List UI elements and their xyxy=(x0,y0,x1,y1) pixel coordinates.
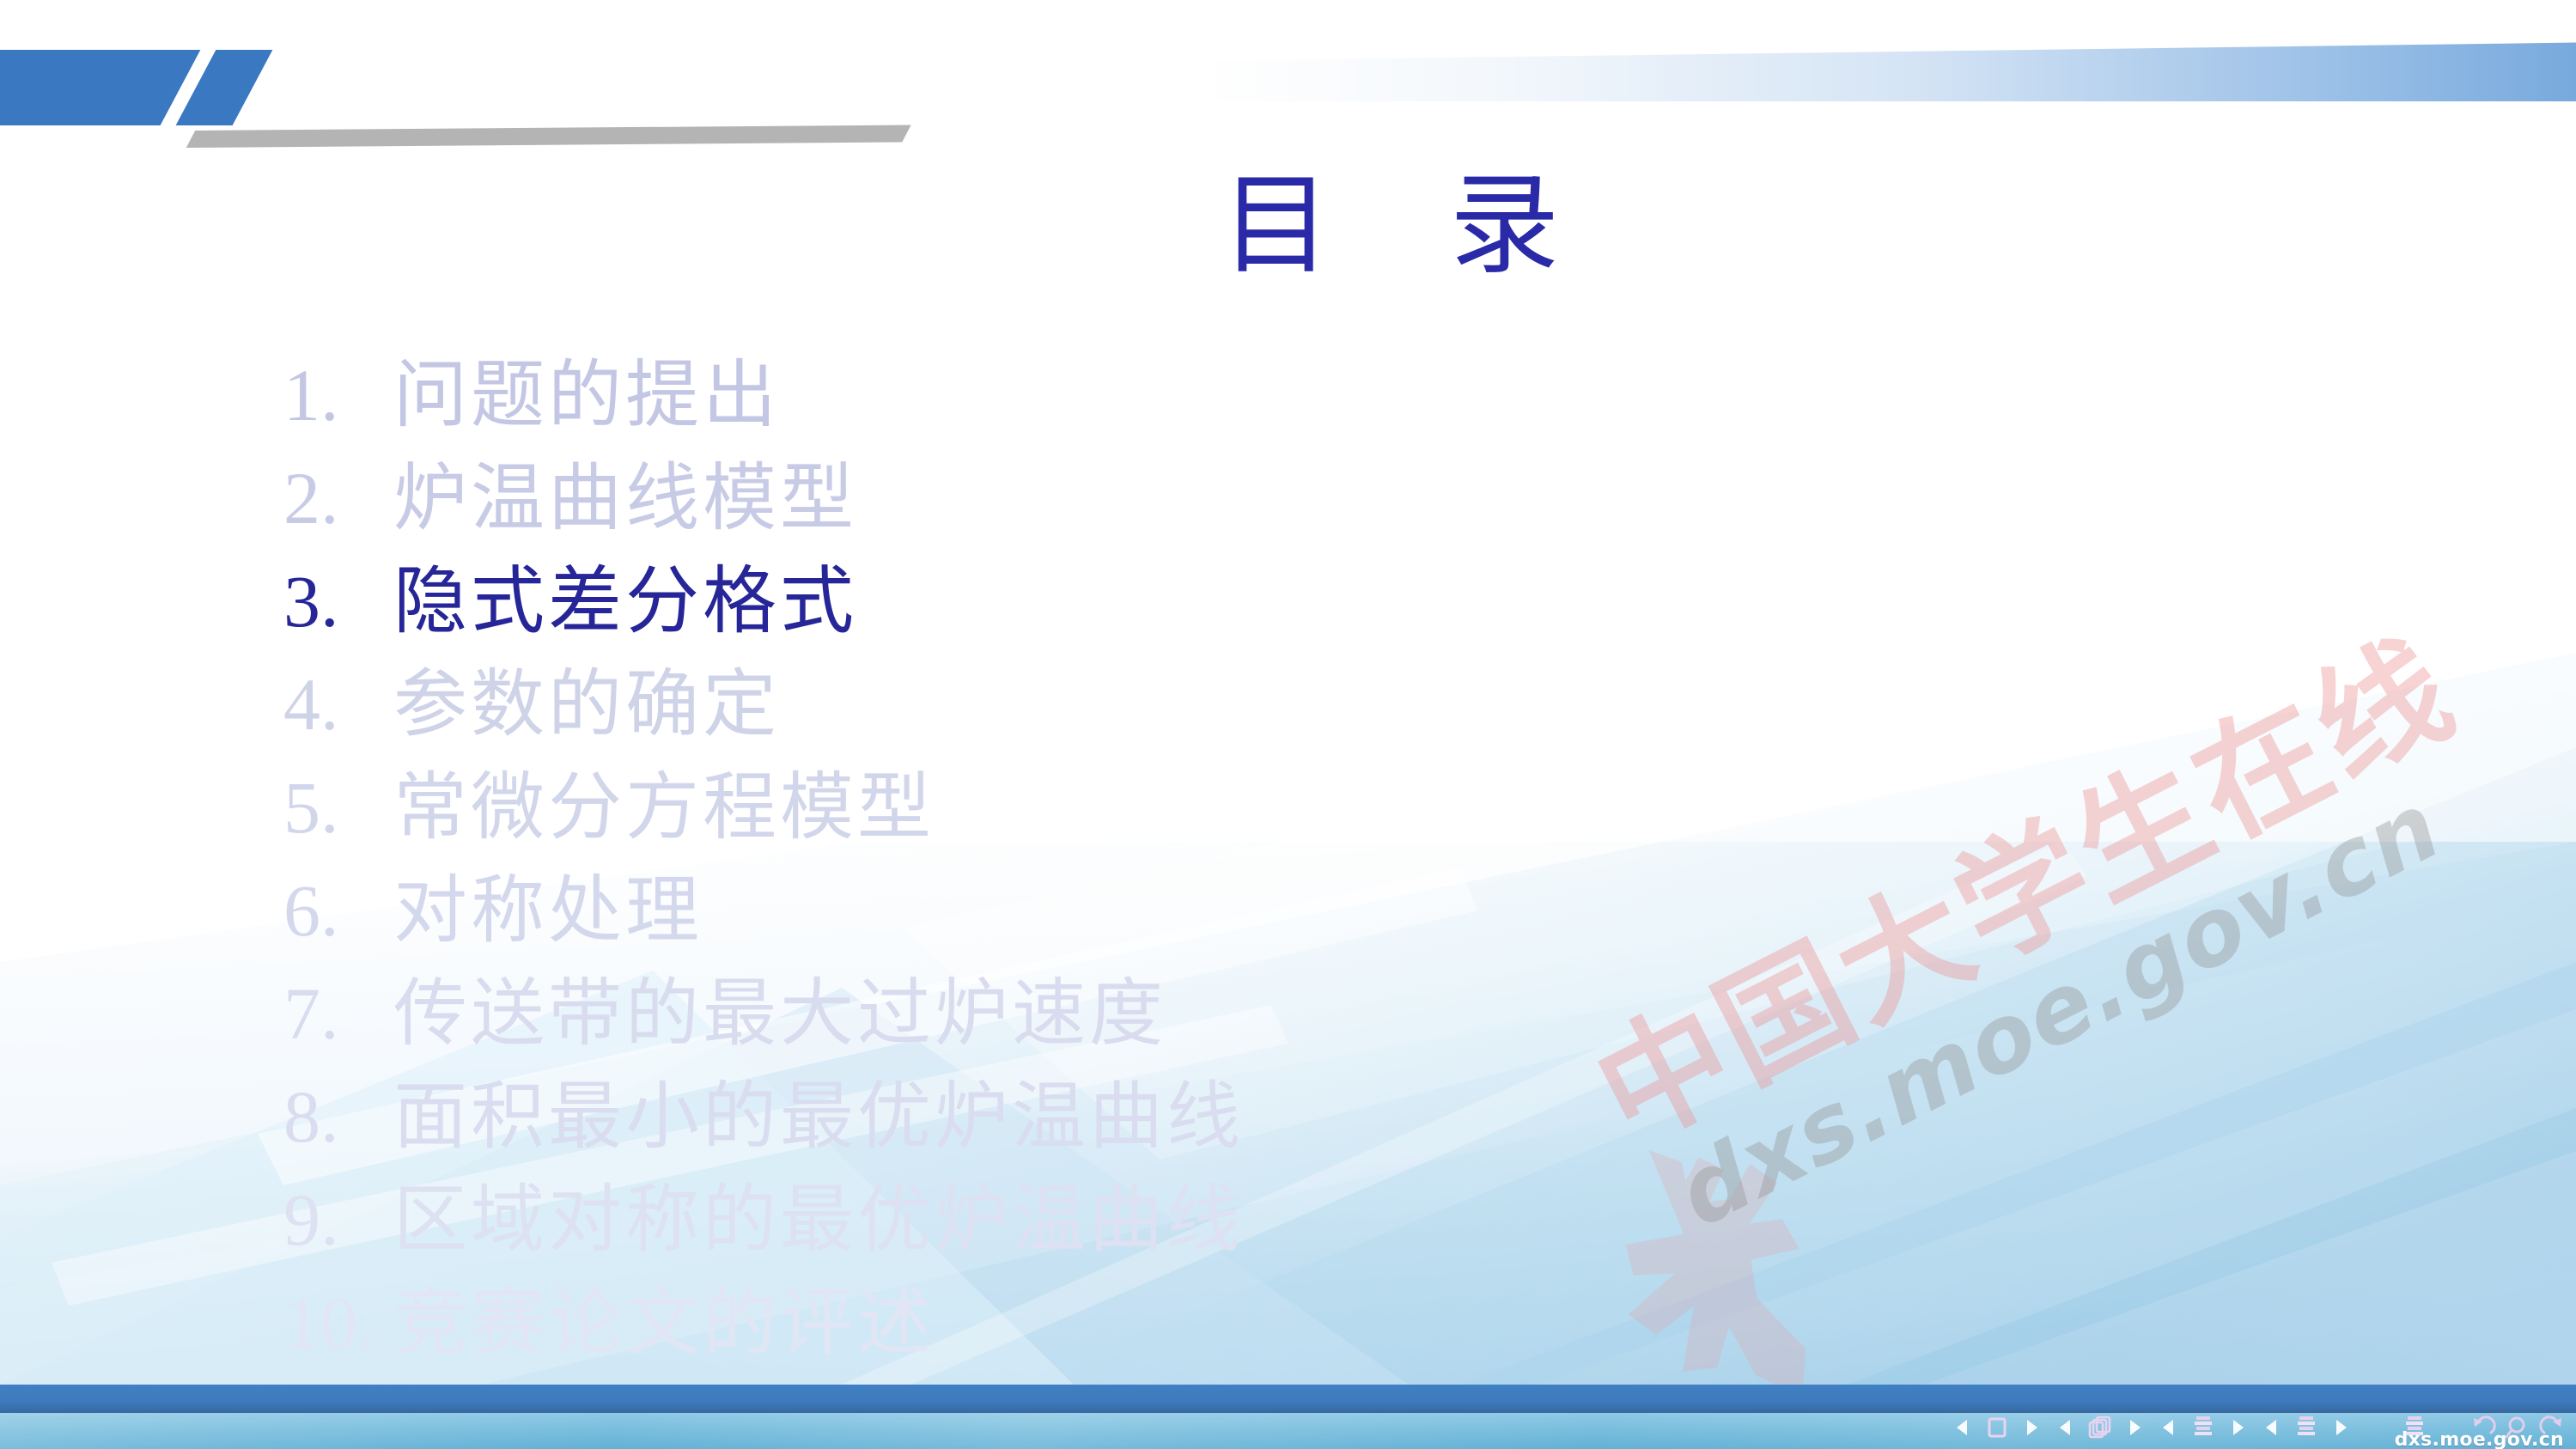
toolbar-url-label: dxs.moe.gov.cn xyxy=(2395,1429,2564,1449)
viewer-toolbar[interactable]: dxs.moe.gov.cn xyxy=(0,1413,2576,1449)
next-page-icon[interactable] xyxy=(2014,1413,2049,1445)
toc-item-number: 10. xyxy=(283,1271,393,1374)
toc-item-number: 8. xyxy=(283,1065,393,1168)
toc-item-7[interactable]: 7. 传送带的最大过炉速度 xyxy=(283,962,2345,1065)
toc-item-number: 1. xyxy=(283,344,393,447)
multi-page-icon[interactable] xyxy=(2083,1413,2117,1445)
toc-item-1[interactable]: 1. 问题的提出 xyxy=(283,344,2345,447)
toc-item-number: 9. xyxy=(283,1168,393,1271)
toc-item-label: 参数的确定 xyxy=(393,653,780,756)
outline-view-icon[interactable] xyxy=(2186,1413,2220,1445)
next-section-icon[interactable] xyxy=(2220,1413,2255,1445)
header-gradient-band xyxy=(1202,0,2576,101)
toc-item-2[interactable]: 2. 炉温曲线模型 xyxy=(283,447,2345,550)
toc-item-number: 6. xyxy=(283,859,393,962)
toc-item-label: 问题的提出 xyxy=(393,344,780,447)
toc-item-label: 传送带的最大过炉速度 xyxy=(393,962,1166,1065)
toc-item-5[interactable]: 5. 常微分方程模型 xyxy=(283,756,2345,859)
toc-item-label: 面积最小的最优炉温曲线 xyxy=(393,1065,1244,1168)
toc-item-number: 2. xyxy=(283,447,393,550)
next-chapter-icon[interactable] xyxy=(2323,1413,2358,1445)
toc-item-number: 3. xyxy=(283,550,393,653)
prev-slide-icon[interactable] xyxy=(2049,1413,2083,1445)
bottom-blue-separator xyxy=(0,1385,2576,1413)
toc-item-number: 5. xyxy=(283,756,393,859)
toc-item-label: 常微分方程模型 xyxy=(393,756,935,859)
slide-canvas: 目 录 1. 问题的提出 2. 炉温曲线模型 3. 隐式差分格式 4. 参数的确… xyxy=(0,0,2576,1385)
header-gray-rule xyxy=(186,125,911,148)
prev-page-icon[interactable] xyxy=(1946,1413,1980,1445)
prev-chapter-icon[interactable] xyxy=(2255,1413,2289,1445)
toc-list: 1. 问题的提出 2. 炉温曲线模型 3. 隐式差分格式 4. 参数的确定 5.… xyxy=(283,344,2345,1374)
next-slide-icon[interactable] xyxy=(2117,1413,2152,1445)
toc-item-label: 炉温曲线模型 xyxy=(393,447,857,550)
toc-item-9[interactable]: 9. 区域对称的最优炉温曲线 xyxy=(283,1168,2345,1271)
toc-item-8[interactable]: 8. 面积最小的最优炉温曲线 xyxy=(283,1065,2345,1168)
toc-item-label: 竞赛论文的评述 xyxy=(393,1271,935,1374)
prev-section-icon[interactable] xyxy=(2152,1413,2186,1445)
toc-item-4[interactable]: 4. 参数的确定 xyxy=(283,653,2345,756)
toc-item-number: 4. xyxy=(283,653,393,756)
page-title: 目 录 xyxy=(103,163,2576,289)
thumbnail-view-icon[interactable] xyxy=(2289,1413,2323,1445)
toc-item-label: 区域对称的最优炉温曲线 xyxy=(393,1168,1244,1271)
toc-item-label: 隐式差分格式 xyxy=(393,550,857,653)
toc-item-3-active[interactable]: 3. 隐式差分格式 xyxy=(283,550,2345,653)
toc-item-6[interactable]: 6. 对称处理 xyxy=(283,859,2345,962)
single-page-icon[interactable] xyxy=(1980,1413,2014,1445)
toc-item-label: 对称处理 xyxy=(393,859,703,962)
toc-item-number: 7. xyxy=(283,962,393,1065)
toc-item-10[interactable]: 10. 竞赛论文的评述 xyxy=(283,1271,2345,1374)
header-blue-parallelogram-large xyxy=(0,50,200,125)
